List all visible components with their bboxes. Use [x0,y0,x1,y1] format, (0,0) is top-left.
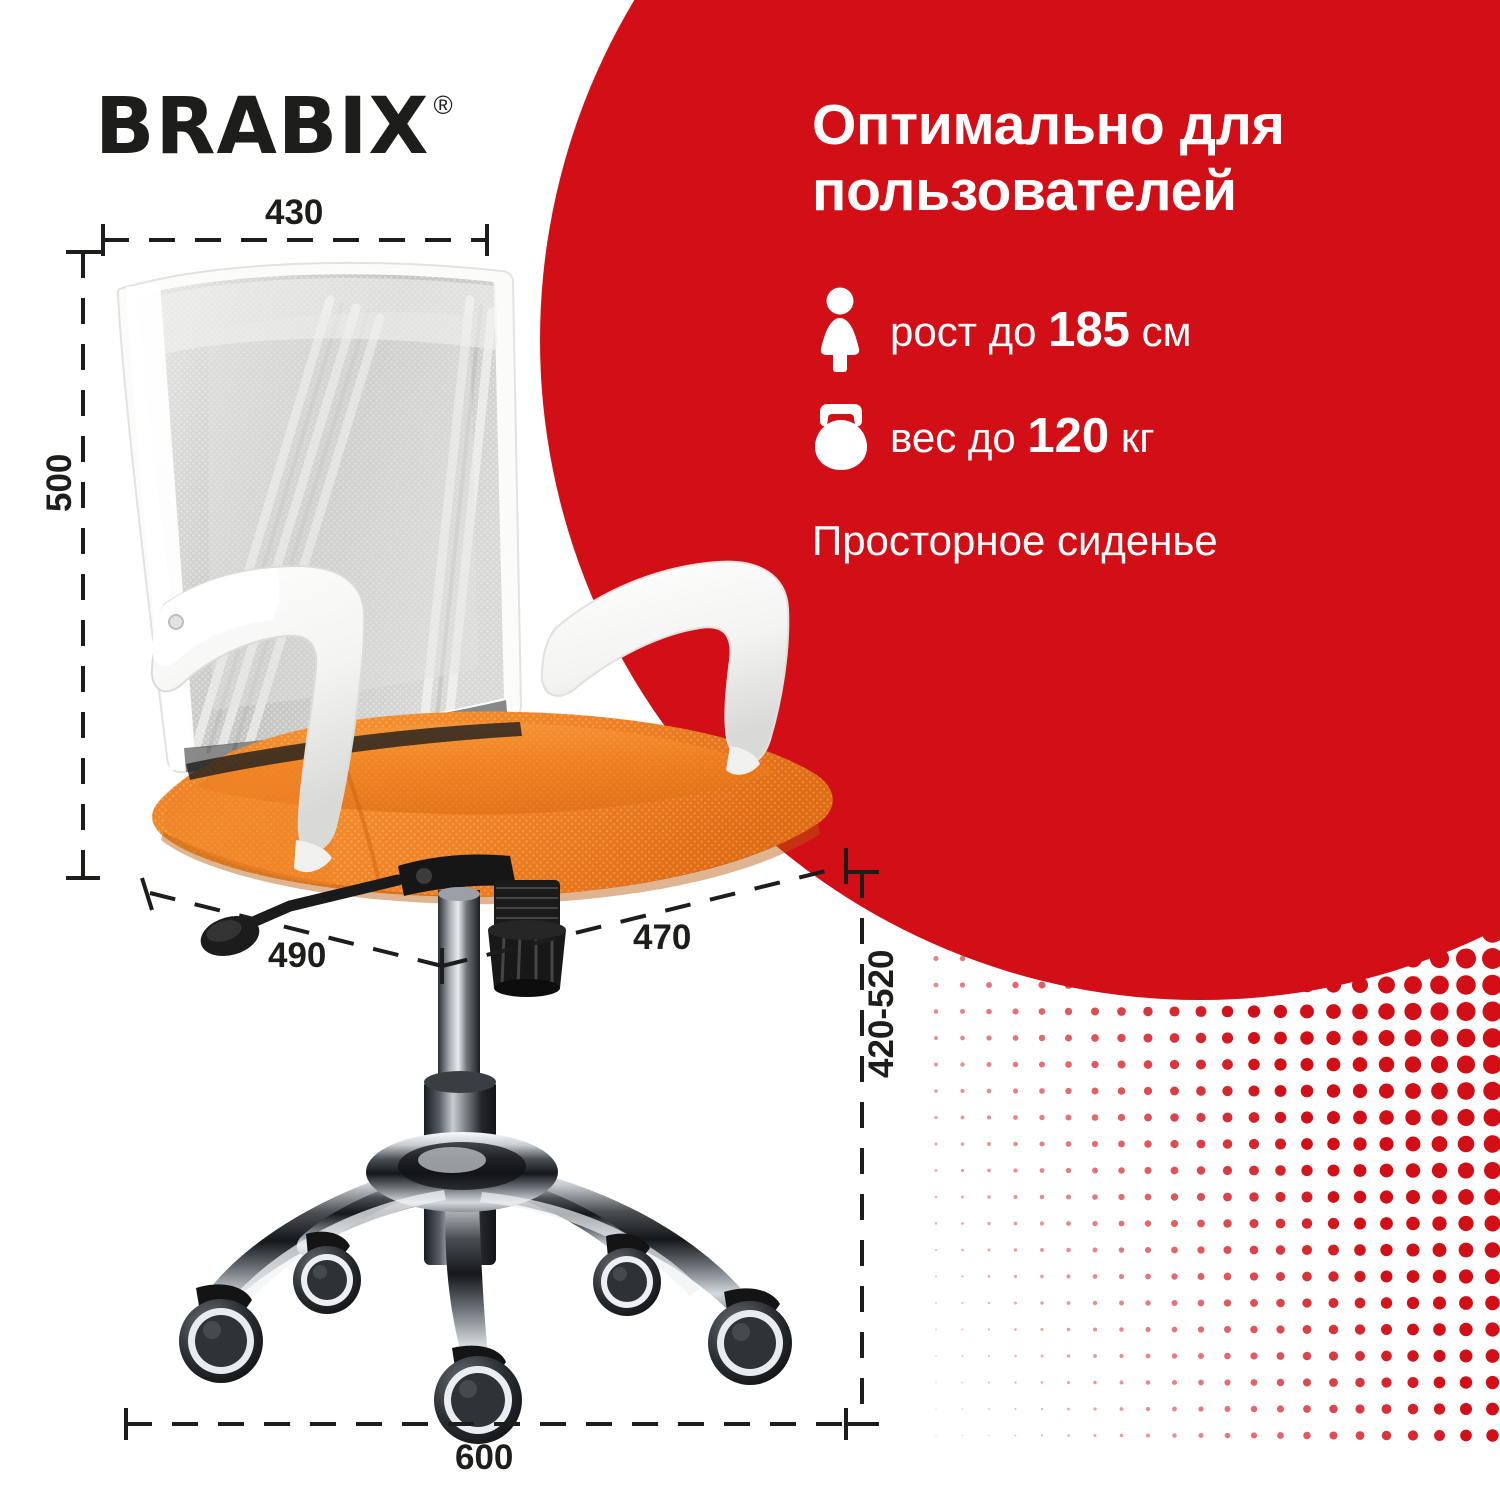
feature-weight-value: 120 [1027,409,1109,463]
headline-line-2: пользователей [812,158,1432,224]
feature-height-value: 185 [1048,303,1130,357]
brabix-logo-text: BRABIX [95,88,430,166]
brabix-logo: BRABIX ® [95,88,453,166]
chair-base-star [201,1132,747,1369]
panel-headline: Оптимально для пользователей [812,92,1432,224]
feature-row-weight: вес до 120 кг [812,390,1432,482]
infographic-canvas: 430 500 490 470 420-520 600 BRABIX ® Опт… [0,0,1500,1500]
feature-text-weight: вес до 120 кг [890,412,1155,461]
feature-panel: Оптимально для пользователей рост до 185… [812,92,1432,562]
feature-weight-prefix: вес до [890,414,1027,461]
feature-row-height: рост до 185 см [812,284,1432,376]
headline-line-1: Оптимально для [812,92,1432,158]
feature-text-height: рост до 185 см [890,306,1191,355]
person-icon [812,287,890,373]
feature-height-suffix: см [1130,308,1192,355]
feature-weight-suffix: кг [1109,414,1154,461]
tilt-lever [196,880,398,963]
office-chair-photo [0,0,900,1450]
feature-text-spacious-seat: Просторное сиденье [812,520,1432,562]
feature-list: рост до 185 см вес до 120 кг Просторное … [812,284,1432,562]
feature-height-prefix: рост до [890,308,1048,355]
registered-trademark-icon: ® [434,92,453,118]
kettlebell-icon [812,400,890,472]
